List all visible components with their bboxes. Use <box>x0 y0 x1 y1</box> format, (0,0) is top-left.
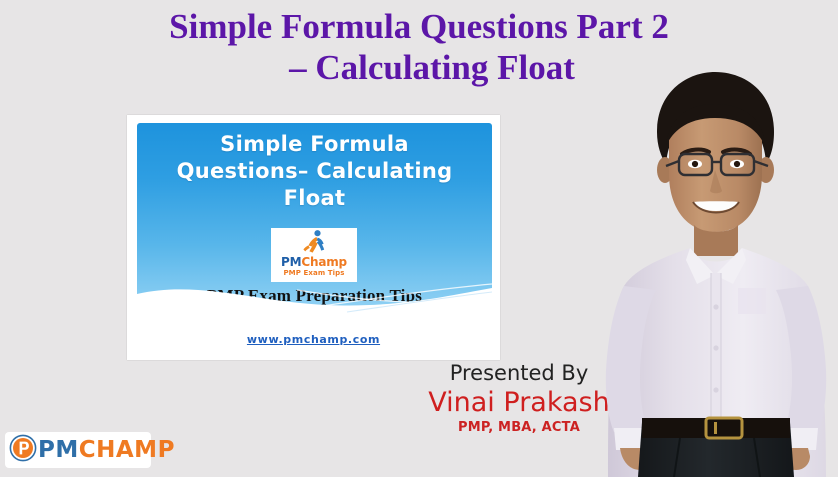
presenter-photo <box>594 70 838 477</box>
slide-heading: Simple Formula Questions– Calculating Fl… <box>137 131 492 212</box>
brand-logo-champ: CHAMP <box>79 437 175 463</box>
pmchamp-logo-wordmark: PMChamp <box>271 256 357 269</box>
slide-website-url[interactable]: www.pmchamp.com <box>127 333 500 346</box>
slide-thumbnail-card: Simple Formula Questions– Calculating Fl… <box>127 115 500 360</box>
slide-heading-line-3: Float <box>137 185 492 212</box>
logo-word-champ: Champ <box>301 255 347 269</box>
brand-logo[interactable]: PMCHAMP <box>5 432 151 468</box>
running-person-icon <box>271 229 357 256</box>
brand-logo-wordmark: PMCHAMP <box>38 439 175 462</box>
slide-canvas: Simple Formula Questions Part 2 – Calcul… <box>0 0 838 477</box>
wave-decoration-icon <box>137 272 492 320</box>
slide-heading-line-2: Questions– Calculating <box>137 158 492 185</box>
slide-heading-line-1: Simple Formula <box>137 131 492 158</box>
slide-blue-panel: Simple Formula Questions– Calculating Fl… <box>137 123 492 320</box>
p-circle-icon <box>9 434 37 467</box>
brand-logo-pm: PM <box>38 437 79 463</box>
logo-word-pm: PM <box>281 255 301 269</box>
page-title-line-1: Simple Formula Questions Part 2 <box>0 6 838 47</box>
